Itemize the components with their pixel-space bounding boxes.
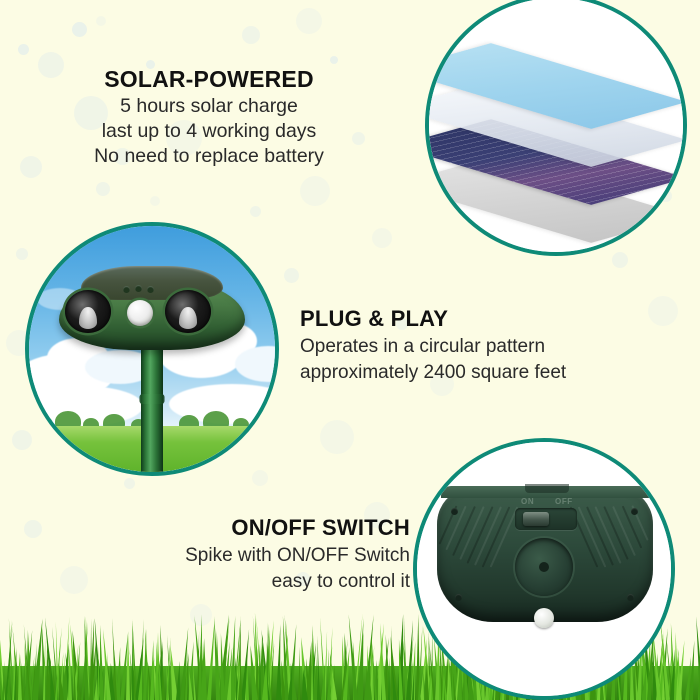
plug-line-2: approximately 2400 square feet [300, 360, 652, 386]
heading-solar-powered: SOLAR-POWERED [0, 64, 418, 94]
motion-sensor-dome [127, 300, 153, 326]
heading-on-off-switch: ON/OFF SWITCH [30, 513, 410, 543]
switch-label-on: ON [521, 497, 534, 506]
on-off-switch-knob[interactable] [523, 512, 549, 526]
solar-panel-photo-circle [425, 0, 687, 256]
ultrasonic-speaker-right [165, 290, 211, 333]
plug-line-1: Operates in a circular pattern [300, 334, 652, 360]
product-stake [141, 344, 163, 476]
solar-layer-diagram [429, 0, 683, 252]
switch-line-2: easy to control it [30, 569, 410, 595]
stake-socket-center [539, 562, 549, 572]
switch-label-off: OFF [555, 497, 573, 506]
solar-line-2: last up to 4 working days [0, 119, 418, 144]
switch-photo-circle: ON OFF [413, 438, 675, 700]
feature-text-solar-powered: SOLAR-POWERED 5 hours solar charge last … [0, 64, 418, 169]
product-stake-joint [140, 394, 165, 404]
switch-line-1: Spike with ON/OFF Switch [30, 543, 410, 569]
feature-text-on-off-switch: ON/OFF SWITCH Spike with ON/OFF Switch e… [30, 513, 410, 595]
heading-plug-and-play: PLUG & PLAY [300, 304, 652, 334]
device-back-view: ON OFF [417, 442, 671, 696]
feature-text-plug-and-play: PLUG & PLAY Operates in a circular patte… [300, 304, 652, 386]
product-photo-circle [25, 222, 279, 476]
infographic-canvas: ON OFF SOLAR-POWERED 5 hours solar charg… [0, 0, 700, 700]
ultrasonic-speaker-left [65, 290, 111, 333]
solar-line-3: No need to replace battery [0, 144, 418, 169]
solar-line-1: 5 hours solar charge [0, 94, 418, 119]
device-lip-notch [525, 484, 569, 493]
light-sensor-button[interactable] [534, 608, 554, 628]
